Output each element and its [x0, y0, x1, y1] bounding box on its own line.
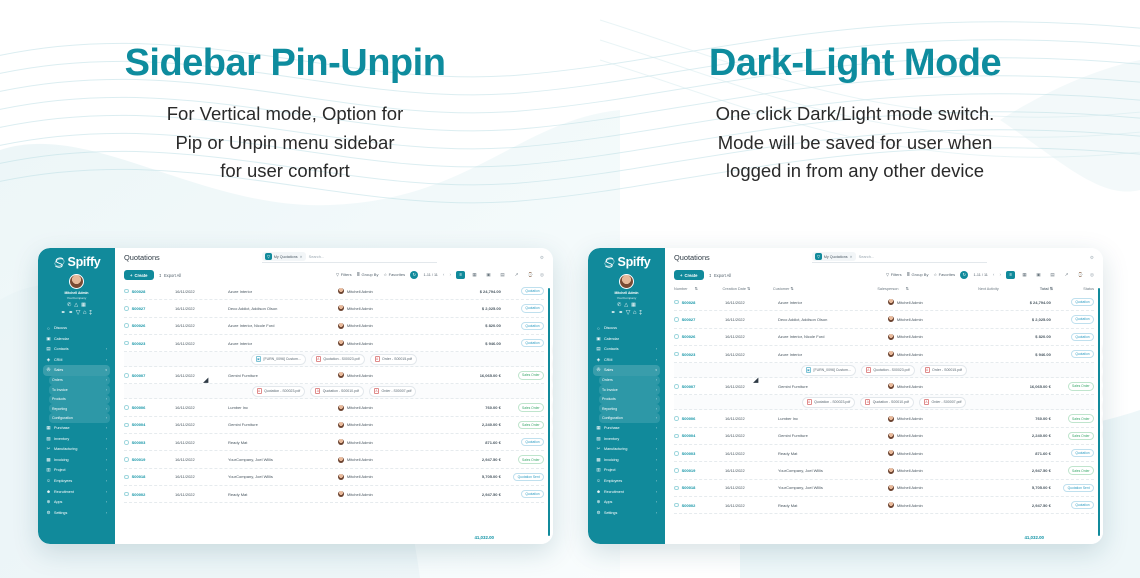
- row-number-cell[interactable]: S00027: [674, 317, 725, 322]
- row-number-cell[interactable]: S00019: [674, 468, 725, 473]
- sidebar-item-label: Apps: [604, 500, 612, 504]
- brand-logo[interactable]: Spiffy: [53, 255, 101, 269]
- sidebar-item-invoicing[interactable]: ▩Invoicing›: [43, 454, 110, 465]
- row-salesperson-cell: Mitchell Admin: [338, 288, 444, 294]
- chevron-right-icon: ›: [656, 447, 657, 451]
- table-row[interactable]: S00027 16/11/2022 Deco Addict, Addison O…: [674, 311, 1094, 328]
- group-icon: ≣: [357, 272, 360, 277]
- sort-icon[interactable]: ⇅: [695, 286, 698, 291]
- graph-view-icon[interactable]: ↗: [1062, 271, 1071, 279]
- pin-icon[interactable]: ‡: [639, 310, 642, 316]
- sidebar-item-manufacturing[interactable]: ✂Manufacturing›: [43, 444, 110, 455]
- row-number-cell[interactable]: S00007: [124, 373, 175, 378]
- row-salesperson: Mitchell Admin: [897, 334, 923, 339]
- link-icon[interactable]: ⚭: [618, 310, 623, 316]
- spiffy-s-logo-icon: [53, 256, 66, 269]
- row-number-cell[interactable]: S00002: [674, 503, 725, 508]
- phone-icon[interactable]: ✆: [617, 303, 621, 308]
- row-select-radio[interactable]: [124, 341, 129, 346]
- row-number: S00006: [132, 405, 146, 410]
- vertical-scrollbar[interactable]: [548, 288, 550, 536]
- row-select-radio[interactable]: [124, 289, 129, 294]
- inventory-icon: ▧: [46, 436, 51, 442]
- row-number-cell[interactable]: S00018: [674, 485, 725, 490]
- row-number-cell[interactable]: S00026: [674, 334, 725, 339]
- table-row[interactable]: S00004 16/11/2022 Gemini Furniture Mitch…: [674, 428, 1094, 445]
- row-status-cell: Quotation: [501, 339, 544, 347]
- table-row[interactable]: S00023 16/11/2022 Azure Interior Mitchel…: [674, 346, 1094, 363]
- grid-icon[interactable]: ▦: [81, 303, 86, 308]
- pivot-view-icon[interactable]: ▤: [1048, 271, 1057, 279]
- purchase-icon: ▦: [46, 425, 51, 431]
- apps-icon: ⊕: [46, 499, 51, 505]
- row-salesperson: Mitchell Admin: [897, 384, 923, 389]
- help-icon[interactable]: ◎: [540, 272, 544, 278]
- row-salesperson: Mitchell Admin: [347, 323, 373, 328]
- row-select-radio[interactable]: [674, 451, 679, 456]
- group-by-button[interactable]: ≣Group By: [907, 272, 929, 277]
- row-select-radio[interactable]: [124, 492, 129, 497]
- sidebar-item-configuration[interactable]: Configuration›: [599, 413, 660, 422]
- star-icon: ☆: [933, 272, 937, 277]
- search-bar[interactable]: ▽ My Quotations ✕ Search...: [812, 252, 987, 263]
- sidebar-item-sales[interactable]: ✇Sales▾: [43, 365, 110, 376]
- close-icon[interactable]: ✕: [850, 255, 853, 259]
- chevron-right-icon: ›: [656, 416, 657, 420]
- employees-icon: ☺: [596, 478, 601, 483]
- sidebar-item-reporting[interactable]: Reporting›: [49, 404, 110, 413]
- status-badge: Quotation: [521, 304, 544, 312]
- row-select-radio[interactable]: [674, 434, 679, 439]
- row-number-cell[interactable]: S00002: [124, 492, 175, 497]
- sidebar-item-label: CRM: [604, 358, 612, 362]
- export-label: Export All: [164, 273, 181, 278]
- table-row[interactable]: S00026 16/11/2022 Azure Interior, Nicole…: [674, 329, 1094, 346]
- row-select-radio[interactable]: [124, 475, 129, 480]
- list-view-icon[interactable]: ≡: [1006, 271, 1015, 279]
- pager-prev-button[interactable]: ‹: [993, 272, 995, 277]
- row-salesperson-cell: Mitchell Admin: [338, 323, 444, 329]
- pin-icon[interactable]: ‡: [89, 310, 92, 316]
- attachment-chip[interactable]: A Quotation - S00010.pdf: [860, 397, 914, 408]
- favorites-button[interactable]: ☆Favorites: [383, 272, 405, 277]
- sidebar-item-label: Configuration: [602, 416, 623, 420]
- filters-button[interactable]: ▽Filters: [886, 272, 902, 277]
- sidebar-item-to-invoice[interactable]: To Invoice›: [49, 385, 110, 394]
- sidebar-item-label: Manufacturing: [54, 447, 77, 451]
- sidebar-item-apps[interactable]: ⊕Apps›: [43, 497, 110, 508]
- favorites-label: Favorites: [389, 272, 405, 277]
- attachment-chip[interactable]: A Order - S00007.pdf: [369, 386, 416, 397]
- status-badge: Sales Order: [1068, 466, 1094, 474]
- brand-name: Spiffy: [618, 255, 651, 269]
- row-status-cell: Quotation: [1051, 315, 1094, 323]
- quotations-table: S00028 16/11/2022 Azure Interior Mitchel…: [665, 294, 1103, 531]
- attachment-chip[interactable]: A Quotation - S00023.pdf: [252, 386, 306, 397]
- pager-next-button[interactable]: ›: [999, 272, 1001, 277]
- search-facet[interactable]: ▽ My Quotations ✕: [262, 252, 305, 261]
- pager-prev-button[interactable]: ‹: [443, 272, 445, 277]
- sidebar-item-project[interactable]: ▥Project›: [593, 465, 660, 476]
- sidebar-item-contacts[interactable]: ▤Contacts›: [43, 344, 110, 355]
- row-number-cell[interactable]: S00006: [674, 416, 725, 421]
- row-status-cell: Quotation: [1051, 449, 1094, 457]
- row-total: $ 946.00: [444, 341, 501, 346]
- sidebar-item-discuss[interactable]: ○Discuss: [593, 323, 660, 334]
- hero-column-right: Dark-Light Mode One click Dark/Light mod…: [570, 0, 1140, 230]
- table-row[interactable]: S00003 16/11/2022 Ready Mat Mitchell Adm…: [674, 445, 1094, 462]
- column-header[interactable]: Customer: [773, 287, 789, 291]
- sidebar-item-configuration[interactable]: Configuration›: [49, 413, 110, 422]
- row-select-radio[interactable]: [674, 334, 679, 339]
- row-date: 16/11/2022: [175, 440, 228, 445]
- grid-icon[interactable]: ▦: [631, 303, 636, 308]
- table-row[interactable]: S00018 16/11/2022 YourCompany, Joel Will…: [674, 480, 1094, 497]
- bell-icon[interactable]: △: [624, 303, 628, 308]
- sidebar-item-discuss[interactable]: ○Discuss: [43, 323, 110, 334]
- sidebar-item-recruitment[interactable]: ☻Recruitment›: [593, 486, 660, 497]
- row-salesperson: Mitchell Admin: [897, 468, 923, 473]
- row-select-radio[interactable]: [124, 373, 129, 378]
- close-icon[interactable]: ✕: [300, 255, 303, 259]
- sidebar-item-purchase[interactable]: ▦Purchase›: [593, 423, 660, 434]
- row-select-radio[interactable]: [674, 503, 679, 508]
- calendar-view-icon[interactable]: ▣: [1034, 271, 1043, 279]
- export-all-button[interactable]: ↥Export All: [159, 273, 182, 278]
- column-header[interactable]: Number: [674, 287, 688, 291]
- row-number: S00027: [682, 317, 696, 322]
- sidebar-item-label: Invoicing: [54, 458, 69, 462]
- sidebar-item-settings[interactable]: ⚙Settings›: [593, 507, 660, 518]
- sidebar-item-employees[interactable]: ☺Employees›: [593, 476, 660, 487]
- chevron-right-icon: ›: [656, 468, 657, 472]
- attachment-chip[interactable]: ▣ [FURN_0096] Custom...: [251, 354, 306, 365]
- chevron-right-icon: ›: [106, 426, 107, 430]
- sort-icon[interactable]: ⇅: [747, 287, 750, 291]
- graph-view-icon[interactable]: ↗: [512, 271, 521, 279]
- sidebar-item-orders[interactable]: Orders›: [49, 376, 110, 385]
- sidebar-item-calendar[interactable]: ▣Calendar: [43, 333, 110, 344]
- row-customer: Azure Interior: [228, 289, 338, 294]
- status-badge: Sales Order: [518, 403, 544, 411]
- row-number-cell[interactable]: S00027: [124, 306, 175, 311]
- table-header: Number ⇅ Creation Date ⇅ Customer ⇅ Sale…: [665, 283, 1103, 294]
- kanban-view-icon[interactable]: ▦: [1020, 271, 1029, 279]
- row-number-cell[interactable]: S00023: [124, 341, 175, 346]
- row-salesperson-cell: Mitchell Admin: [338, 372, 444, 378]
- refresh-icon[interactable]: ↻: [410, 271, 418, 279]
- row-number-cell[interactable]: S00004: [674, 433, 725, 438]
- row-date: 16/11/2022: [725, 485, 778, 490]
- row-select-radio[interactable]: [674, 416, 679, 421]
- chevron-right-icon: ›: [106, 511, 107, 515]
- column-header[interactable]: Next Activity: [978, 287, 999, 291]
- row-number: S00028: [682, 300, 696, 305]
- bell-icon[interactable]: △: [74, 303, 78, 308]
- help-icon[interactable]: ◎: [1090, 272, 1094, 278]
- sidebar-item-label: Settings: [604, 511, 617, 515]
- row-number-cell[interactable]: S00004: [124, 422, 175, 427]
- row-number-cell[interactable]: S00026: [124, 323, 175, 328]
- favorites-button[interactable]: ☆Favorites: [933, 272, 955, 277]
- row-salesperson-cell: Mitchell Admin: [338, 340, 444, 346]
- table-row[interactable]: S00007 16/11/2022 Gemini Furniture Mitch…: [674, 378, 1094, 395]
- row-select-radio[interactable]: [674, 300, 679, 305]
- attachment-chip[interactable]: A Quotation - S00023.pdf: [802, 397, 856, 408]
- row-number-cell[interactable]: S00028: [124, 289, 175, 294]
- sidebar-item-settings[interactable]: ⚙Settings›: [43, 507, 110, 518]
- table-row[interactable]: S00018 16/11/2022 YourCompany, Joel Will…: [124, 469, 544, 486]
- row-salesperson-cell: Mitchell Admin: [888, 468, 994, 474]
- table-row[interactable]: S00019 16/11/2022 YourCompany, Joel Will…: [674, 462, 1094, 479]
- row-number-cell[interactable]: S00028: [674, 300, 725, 305]
- summary-total: 41,032.00: [474, 535, 544, 540]
- row-number-cell[interactable]: S00003: [674, 451, 725, 456]
- table-row[interactable]: S00002 16/11/2022 Ready Mat Mitchell Adm…: [124, 486, 544, 503]
- row-number-cell[interactable]: S00019: [124, 457, 175, 462]
- activity-view-icon[interactable]: ⌚: [1076, 271, 1085, 279]
- row-number: S00003: [682, 451, 696, 456]
- lock-icon[interactable]: ⌂: [633, 310, 637, 316]
- manufacturing-icon: ✂: [596, 446, 601, 452]
- row-number-cell[interactable]: S00007: [674, 384, 725, 389]
- row-date: 16/11/2022: [175, 422, 228, 427]
- row-salesperson: Mitchell Admin: [897, 485, 923, 490]
- row-select-radio[interactable]: [124, 323, 129, 328]
- gear-icon[interactable]: ⚙: [1090, 255, 1094, 261]
- recruitment-icon: ☻: [596, 489, 601, 494]
- attachment-chip[interactable]: A Quotation - S00023.pdf: [311, 354, 365, 365]
- column-header[interactable]: Creation Date: [723, 287, 746, 291]
- table-row[interactable]: S00007 16/11/2022 Gemini Furniture Mitch…: [124, 367, 544, 384]
- row-salesperson-cell: Mitchell Admin: [338, 405, 444, 411]
- funnel-icon: ▽: [886, 272, 889, 277]
- brand-logo[interactable]: Spiffy: [603, 255, 651, 269]
- row-date: 16/11/2022: [175, 457, 228, 462]
- row-number-cell[interactable]: S00023: [674, 352, 725, 357]
- row-select-radio[interactable]: [124, 405, 129, 410]
- phone-icon[interactable]: ✆: [67, 303, 71, 308]
- table-row[interactable]: S00028 16/11/2022 Azure Interior Mitchel…: [674, 294, 1094, 311]
- list-view-icon[interactable]: ≡: [456, 271, 465, 279]
- row-select-radio[interactable]: [124, 306, 129, 311]
- sidebar-item-purchase[interactable]: ▦Purchase›: [43, 423, 110, 434]
- kanban-view-icon[interactable]: ▦: [470, 271, 479, 279]
- row-customer: Azure Interior: [778, 300, 888, 305]
- sidebar-item-invoicing[interactable]: ▩Invoicing›: [593, 454, 660, 465]
- row-select-radio[interactable]: [124, 440, 129, 445]
- pivot-view-icon[interactable]: ▤: [498, 271, 507, 279]
- status-badge: Sales Order: [518, 371, 544, 379]
- table-row[interactable]: S00019 16/11/2022 YourCompany, Joel Will…: [124, 451, 544, 468]
- sidebar-item-inventory[interactable]: ▧Inventory›: [43, 433, 110, 444]
- row-select-radio[interactable]: [124, 457, 129, 462]
- crm-icon: ◈: [46, 357, 51, 363]
- column-header[interactable]: Total: [1040, 287, 1049, 291]
- table-row[interactable]: S00002 16/11/2022 Ready Mat Mitchell Adm…: [674, 497, 1094, 514]
- column-header[interactable]: Status: [1083, 287, 1094, 291]
- chevron-right-icon: ›: [656, 378, 657, 382]
- row-salesperson-cell: Mitchell Admin: [888, 316, 994, 322]
- sidebar-item-products[interactable]: Products›: [49, 395, 110, 404]
- sidebar-item-sales[interactable]: ✇Sales▾: [593, 365, 660, 376]
- row-select-radio[interactable]: [674, 317, 679, 322]
- table-row[interactable]: S00023 16/11/2022 Azure Interior Mitchel…: [124, 335, 544, 352]
- row-salesperson: Mitchell Admin: [347, 457, 373, 462]
- table-row[interactable]: S00003 16/11/2022 Ready Mat Mitchell Adm…: [124, 434, 544, 451]
- avatar: [338, 422, 344, 428]
- project-icon: ▥: [46, 467, 51, 473]
- toolbar: +Create ↥Export All ▽Filters ≣Group By ☆…: [115, 267, 553, 283]
- avatar[interactable]: [69, 274, 84, 289]
- status-badge: Quotation: [521, 339, 544, 347]
- row-total: $ 24,794.00: [444, 289, 501, 294]
- chevron-right-icon: ›: [656, 458, 657, 462]
- search-input[interactable]: Search...: [859, 254, 875, 259]
- attachment-row: ▣ [FURN_0096] Custom... A Quotation - S0…: [674, 363, 1094, 378]
- row-number: S00007: [682, 384, 696, 389]
- sidebar-item-recruitment[interactable]: ☻Recruitment›: [43, 486, 110, 497]
- attachment-chip[interactable]: ▣ [FURN_0096] Custom...: [801, 365, 856, 376]
- attachment-chip[interactable]: A Quotation - S00023.pdf: [861, 365, 915, 376]
- table-row[interactable]: S00006 16/11/2022 Lumber Inc Mitchell Ad…: [124, 399, 544, 416]
- search-bar[interactable]: ▽ My Quotations ✕ Search...: [262, 252, 437, 263]
- row-date: 16/11/2022: [175, 323, 228, 328]
- link-icon[interactable]: ⚭: [611, 310, 616, 316]
- calendar-view-icon[interactable]: ▣: [484, 271, 493, 279]
- row-number-cell[interactable]: S00018: [124, 474, 175, 479]
- sidebar-menu: ○Discuss ▣Calendar ▤Contacts› ◈CRM› ✇Sal…: [38, 323, 115, 518]
- sort-icon[interactable]: ⇅: [790, 287, 793, 291]
- create-button[interactable]: +Create: [124, 270, 154, 280]
- row-salesperson: Mitchell Admin: [897, 416, 923, 421]
- sidebar-item-apps[interactable]: ⊕Apps›: [593, 497, 660, 508]
- pdf-file-icon: A: [316, 356, 321, 362]
- plus-icon: +: [680, 273, 682, 278]
- status-badge: Quotation Sent: [513, 473, 544, 481]
- row-customer: Azure Interior, Nicole Ford: [778, 334, 888, 339]
- row-customer: Ready Mat: [778, 451, 888, 456]
- create-button[interactable]: +Create: [674, 270, 704, 280]
- attachment-chip[interactable]: A Order - S00007.pdf: [919, 397, 966, 408]
- app-screenshot-left: Spiffy Mitchell Admin YourCompany ✆△▦ ⚭⚭…: [38, 248, 553, 544]
- hero-subtitle: For Vertical mode, Option forPip or Unpi…: [167, 100, 404, 186]
- chevron-right-icon: ›: [106, 378, 107, 382]
- row-select-radio[interactable]: [674, 486, 679, 491]
- row-number: S00018: [132, 474, 146, 479]
- lock-icon[interactable]: ⌂: [83, 310, 87, 316]
- chevron-down-icon: ▾: [105, 368, 107, 372]
- settings-icon: ⚙: [596, 510, 601, 516]
- row-number-cell[interactable]: S00006: [124, 405, 175, 410]
- row-total: 2,947.50 €: [994, 468, 1051, 473]
- sidebar-item-project[interactable]: ▥Project›: [43, 465, 110, 476]
- attachment-chip[interactable]: A Order - S00015.pdf: [370, 354, 417, 365]
- sidebar-item-to-invoice[interactable]: To Invoice›: [599, 385, 660, 394]
- row-number-cell[interactable]: S00003: [124, 440, 175, 445]
- chevron-right-icon: ›: [656, 437, 657, 441]
- row-salesperson: Mitchell Admin: [347, 492, 373, 497]
- row-status-cell: Quotation Sent: [1051, 484, 1094, 492]
- table-row[interactable]: S00026 16/11/2022 Azure Interior, Nicole…: [124, 318, 544, 335]
- pager-next-button[interactable]: ›: [449, 272, 451, 277]
- search-input[interactable]: Search...: [309, 254, 325, 259]
- sidebar-item-employees[interactable]: ☺Employees›: [43, 476, 110, 487]
- sidebar-item-calendar[interactable]: ▣Calendar: [593, 333, 660, 344]
- pdf-file-icon: A: [924, 399, 929, 405]
- row-status-cell: Quotation: [1051, 298, 1094, 306]
- vertical-scrollbar[interactable]: [1098, 288, 1100, 536]
- gear-icon[interactable]: ⚙: [540, 255, 544, 261]
- attachment-chip[interactable]: A Order - S00015.pdf: [920, 365, 967, 376]
- avatar[interactable]: [619, 274, 634, 289]
- row-select-radio[interactable]: [674, 468, 679, 473]
- chevron-right-icon: ›: [106, 416, 107, 420]
- favorites-label: Favorites: [939, 272, 955, 277]
- group-icon: ≣: [907, 272, 910, 277]
- chevron-right-icon: ›: [106, 397, 107, 401]
- crm-icon: ◈: [596, 357, 601, 363]
- group-by-button[interactable]: ≣Group By: [357, 272, 379, 277]
- row-date: 16/11/2022: [725, 468, 778, 473]
- filter-icon[interactable]: ▽: [76, 310, 81, 316]
- sidebar-item-products[interactable]: Products›: [599, 395, 660, 404]
- sidebar-item-label: Sales: [54, 368, 63, 372]
- sort-icon[interactable]: ⇅: [906, 286, 909, 291]
- sidebar-item-contacts[interactable]: ▤Contacts›: [593, 344, 660, 355]
- filter-icon[interactable]: ▽: [626, 310, 631, 316]
- chevron-right-icon: ›: [106, 437, 107, 441]
- column-header[interactable]: Salesperson: [877, 287, 898, 291]
- sidebar-item-label: Manufacturing: [604, 447, 627, 451]
- link-icon[interactable]: ⚭: [61, 310, 66, 316]
- toolbar-right: ▽Filters ≣Group By ☆Favorites ↻ 1-11 / 1…: [336, 271, 544, 279]
- sidebar-item-label: CRM: [54, 358, 62, 362]
- sidebar-item-orders[interactable]: Orders›: [599, 376, 660, 385]
- pdf-file-icon: A: [375, 356, 380, 362]
- row-select-radio[interactable]: [674, 352, 679, 357]
- sidebar-item-label: Project: [54, 468, 65, 472]
- sidebar-item-reporting[interactable]: Reporting›: [599, 404, 660, 413]
- search-facet[interactable]: ▽ My Quotations ✕: [812, 252, 855, 261]
- table-row[interactable]: S00004 16/11/2022 Gemini Furniture Mitch…: [124, 417, 544, 434]
- chat-icon: ○: [596, 326, 601, 331]
- sidebar-item-crm[interactable]: ◈CRM›: [43, 355, 110, 366]
- table-row[interactable]: S00027 16/11/2022 Deco Addict, Addison O…: [124, 300, 544, 317]
- row-select-radio[interactable]: [124, 423, 129, 428]
- filters-button[interactable]: ▽Filters: [336, 272, 352, 277]
- sidebar-item-crm[interactable]: ◈CRM›: [593, 355, 660, 366]
- export-all-button[interactable]: ↥Export All: [709, 273, 732, 278]
- row-customer: Gemini Furniture: [778, 384, 888, 389]
- attachment-chip[interactable]: A Quotation - S00010.pdf: [310, 386, 364, 397]
- row-date: 16/11/2022: [175, 405, 228, 410]
- sidebar-item-manufacturing[interactable]: ✂Manufacturing›: [593, 444, 660, 455]
- sidebar-item-inventory[interactable]: ▧Inventory›: [593, 433, 660, 444]
- table-row[interactable]: S00006 16/11/2022 Lumber Inc Mitchell Ad…: [674, 410, 1094, 427]
- activity-view-icon[interactable]: ⌚: [526, 271, 535, 279]
- row-salesperson-cell: Mitchell Admin: [338, 439, 444, 445]
- row-total: 871.60 €: [444, 440, 501, 445]
- refresh-icon[interactable]: ↻: [960, 271, 968, 279]
- table-row[interactable]: S00028 16/11/2022 Azure Interior Mitchel…: [124, 283, 544, 300]
- row-salesperson-cell: Mitchell Admin: [888, 383, 994, 389]
- link-icon[interactable]: ⚭: [68, 310, 73, 316]
- attachment-label: Quotation - S00023.pdf: [814, 400, 850, 404]
- row-select-radio[interactable]: [674, 384, 679, 389]
- chevron-right-icon: ›: [656, 397, 657, 401]
- row-total: $ 820.00: [994, 334, 1051, 339]
